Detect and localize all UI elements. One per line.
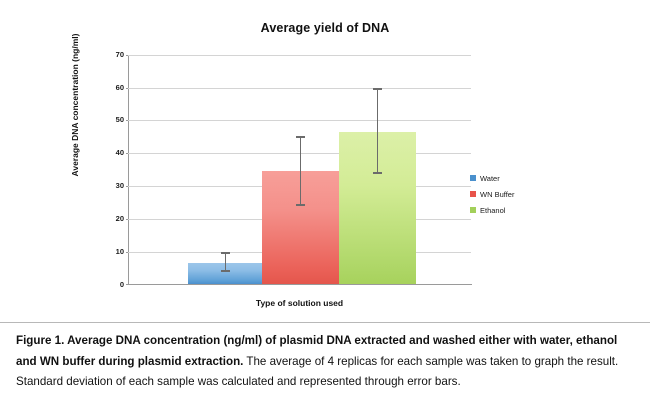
figure-caption: Figure 1. Average DNA concentration (ng/… — [16, 331, 636, 393]
error-bar-water — [225, 253, 226, 271]
legend-swatch-water-icon — [470, 175, 476, 181]
gridline-70 — [128, 55, 471, 56]
y-tick-label: 10 — [98, 248, 124, 256]
legend-swatch-ethanol-icon — [470, 207, 476, 213]
y-axis-tick-labels: 70 60 50 40 30 20 10 0 — [96, 0, 124, 320]
x-axis-title: Type of solution used — [128, 298, 471, 308]
caption-divider — [0, 322, 650, 323]
legend-item-water[interactable]: Water — [470, 170, 560, 186]
gridline-50 — [128, 120, 471, 121]
y-tick-label: 60 — [98, 84, 124, 92]
error-cap-water-lower — [221, 270, 230, 272]
y-tick-label: 70 — [98, 51, 124, 59]
error-cap-ethanol-lower — [373, 172, 382, 174]
legend-label-ethanol: Ethanol — [480, 206, 505, 215]
legend-item-wn-buffer[interactable]: WN Buffer — [470, 186, 560, 202]
legend-label-wn-buffer: WN Buffer — [480, 190, 514, 199]
error-bar-ethanol — [377, 89, 378, 173]
y-tick-label: 40 — [98, 149, 124, 157]
y-tick-label: 20 — [98, 215, 124, 223]
error-cap-wn-buffer-upper — [296, 136, 305, 138]
chart-legend: Water WN Buffer Ethanol — [470, 170, 560, 218]
legend-item-ethanol[interactable]: Ethanol — [470, 202, 560, 218]
legend-label-water: Water — [480, 174, 500, 183]
x-axis-line — [128, 284, 472, 285]
error-bar-wn-buffer — [300, 137, 301, 205]
y-axis-title: Average DNA concentration (ng/ml) — [70, 15, 80, 195]
legend-swatch-wn-buffer-icon — [470, 191, 476, 197]
error-cap-ethanol-upper — [373, 88, 382, 90]
y-tick-label: 50 — [98, 116, 124, 124]
gridline-60 — [128, 88, 471, 89]
y-tick-label: 0 — [98, 281, 124, 289]
error-cap-wn-buffer-lower — [296, 204, 305, 206]
plot-area — [128, 55, 471, 284]
error-cap-water-upper — [221, 252, 230, 254]
figure-chart-area: Average yield of DNA Average DNA concent… — [0, 0, 650, 320]
y-tick-label: 30 — [98, 182, 124, 190]
